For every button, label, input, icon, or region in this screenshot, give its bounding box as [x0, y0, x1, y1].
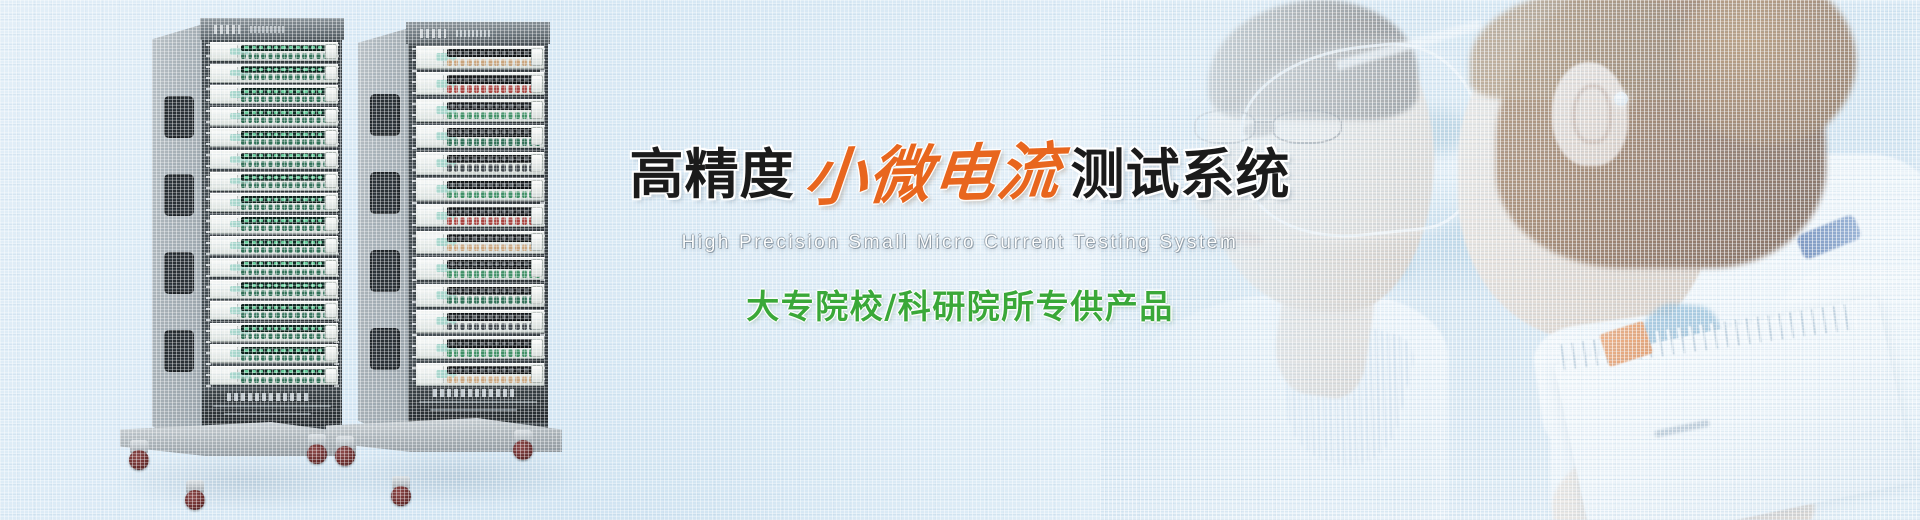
display-segment	[473, 157, 477, 161]
unit-handle	[531, 259, 543, 277]
display-segment	[318, 133, 322, 136]
unit-terminal	[454, 59, 459, 67]
unit-terminal	[268, 161, 273, 167]
display-segment	[524, 236, 528, 240]
unit-display	[447, 339, 539, 347]
display-segment	[252, 349, 256, 352]
rack-caster	[126, 440, 152, 470]
unit-terminal	[282, 269, 287, 275]
unit-terminal	[454, 323, 459, 331]
unit-terminal	[261, 182, 266, 188]
unit-terminal	[288, 139, 293, 145]
display-segment	[296, 219, 300, 222]
unit-terminal	[488, 349, 493, 357]
unit-terminal	[248, 225, 253, 231]
display-segment	[303, 219, 307, 222]
display-segment	[311, 90, 315, 93]
rack-instrument-unit	[416, 46, 544, 69]
display-segment	[495, 289, 499, 293]
unit-terminal	[460, 191, 465, 199]
unit-handle	[325, 152, 337, 167]
unit-terminal	[302, 74, 307, 80]
display-segment	[259, 46, 263, 49]
unit-terminal	[275, 53, 280, 59]
unit-terminal	[474, 270, 479, 278]
unit-terminal	[494, 244, 499, 252]
rack-vent-slot	[370, 94, 400, 136]
rack-instrument-unit	[210, 215, 338, 234]
unit-terminal	[494, 270, 499, 278]
unit-terminal	[268, 247, 273, 253]
unit-terminal	[241, 290, 246, 296]
unit-display	[447, 75, 539, 83]
unit-terminal-row	[241, 269, 336, 275]
unit-terminal	[295, 182, 300, 188]
unit-terminal	[494, 112, 499, 120]
display-segment	[450, 236, 454, 240]
display-segment	[281, 349, 285, 352]
unit-terminal	[254, 161, 259, 167]
unit-terminal	[316, 139, 321, 145]
display-segment	[487, 368, 491, 372]
display-segment	[274, 219, 278, 222]
unit-terminal	[288, 355, 293, 361]
display-segment	[303, 306, 307, 309]
unit-display	[447, 102, 539, 110]
unit-terminal	[481, 244, 486, 252]
rack-instrument-unit	[210, 64, 338, 83]
rack-instrument-unit	[416, 204, 544, 227]
unit-terminal-row	[447, 59, 542, 67]
display-segment	[289, 306, 293, 309]
display-segment	[311, 370, 315, 373]
unit-terminal	[467, 323, 472, 331]
unit-terminal	[488, 323, 493, 331]
display-segment	[281, 176, 285, 179]
unit-terminal	[454, 112, 459, 120]
display-segment	[244, 111, 248, 114]
rack-instrument-unit	[210, 128, 338, 147]
unit-terminal	[268, 117, 273, 123]
unit-handle	[531, 233, 543, 251]
display-segment	[296, 46, 300, 49]
display-segment	[296, 327, 300, 330]
unit-terminal-row	[447, 270, 542, 278]
unit-terminal	[295, 117, 300, 123]
unit-terminal	[248, 247, 253, 253]
display-segment	[495, 183, 499, 187]
unit-terminal	[515, 59, 520, 67]
display-segment	[480, 289, 484, 293]
display-segment	[274, 370, 278, 373]
unit-terminal	[447, 112, 452, 120]
unit-terminal	[248, 53, 253, 59]
unit-terminal	[522, 376, 527, 384]
unit-terminal	[316, 117, 321, 123]
unit-display	[447, 207, 539, 215]
unit-handle	[325, 44, 337, 59]
unit-terminal-row	[447, 164, 542, 172]
unit-terminal	[261, 377, 266, 383]
display-segment	[480, 262, 484, 266]
rack-cable	[430, 409, 517, 411]
unit-terminal	[302, 96, 307, 102]
unit-terminal	[241, 74, 246, 80]
display-segment	[281, 111, 285, 114]
unit-terminal	[295, 290, 300, 296]
unit-terminal	[494, 349, 499, 357]
display-segment	[502, 315, 506, 319]
unit-terminal	[302, 182, 307, 188]
display-segment	[473, 183, 477, 187]
unit-handle	[325, 217, 337, 232]
unit-terminal	[447, 323, 452, 331]
display-segment	[495, 342, 499, 346]
unit-terminal	[515, 217, 520, 225]
display-segment	[289, 284, 293, 287]
unit-terminal	[454, 164, 459, 172]
unit-terminal	[501, 217, 506, 225]
display-segment	[244, 90, 248, 93]
unit-handle	[531, 286, 543, 304]
unit-terminal	[522, 85, 527, 93]
unit-terminal	[261, 290, 266, 296]
unit-terminal	[508, 59, 513, 67]
rack-cable	[419, 401, 537, 403]
display-segment	[267, 306, 271, 309]
display-segment	[252, 370, 256, 373]
unit-terminal	[254, 204, 259, 210]
display-segment	[289, 198, 293, 201]
unit-handle	[325, 130, 337, 145]
display-segment	[318, 262, 322, 265]
display-segment	[509, 368, 513, 372]
unit-terminal-row	[241, 139, 336, 145]
display-segment	[524, 183, 528, 187]
unit-terminal-row	[241, 333, 336, 339]
display-segment	[274, 349, 278, 352]
rack-plinth	[202, 390, 342, 426]
display-segment	[289, 111, 293, 114]
unit-handle	[325, 238, 337, 253]
unit-terminal	[268, 269, 273, 275]
unit-terminal	[474, 85, 479, 93]
unit-terminal	[316, 96, 321, 102]
unit-terminal	[467, 112, 472, 120]
unit-terminal	[275, 355, 280, 361]
unit-terminal	[248, 355, 253, 361]
unit-terminal	[282, 312, 287, 318]
display-segment	[289, 349, 293, 352]
display-segment	[281, 241, 285, 244]
display-segment	[458, 368, 462, 372]
unit-terminal	[522, 244, 527, 252]
display-segment	[524, 210, 528, 214]
unit-terminal-row	[447, 85, 542, 93]
unit-terminal	[316, 161, 321, 167]
unit-terminal	[515, 296, 520, 304]
display-segment	[252, 262, 256, 265]
display-segment	[296, 241, 300, 244]
display-segment	[252, 133, 256, 136]
display-segment	[281, 370, 285, 373]
unit-handle	[531, 75, 543, 93]
unit-terminal	[302, 290, 307, 296]
display-segment	[311, 349, 315, 352]
unit-terminal	[467, 138, 472, 146]
display-segment	[458, 236, 462, 240]
rack-instrument-unit	[416, 336, 544, 359]
display-segment	[274, 68, 278, 71]
unit-terminal	[481, 85, 486, 93]
unit-terminal-row	[241, 377, 336, 383]
rack-brand-logo	[214, 25, 240, 34]
display-segment	[303, 198, 307, 201]
display-segment	[244, 306, 248, 309]
rack-instrument-unit	[210, 107, 338, 126]
unit-terminal	[241, 139, 246, 145]
display-segment	[480, 315, 484, 319]
display-segment	[281, 68, 285, 71]
unit-terminal	[261, 161, 266, 167]
unit-terminal	[282, 182, 287, 188]
unit-terminal	[295, 377, 300, 383]
unit-terminal	[309, 139, 314, 145]
display-segment	[502, 130, 506, 134]
unit-display	[241, 88, 333, 95]
rack-vent-slot	[164, 252, 194, 294]
unit-terminal	[474, 217, 479, 225]
display-segment	[450, 262, 454, 266]
display-segment	[281, 133, 285, 136]
unit-terminal	[447, 296, 452, 304]
unit-terminal	[248, 290, 253, 296]
display-segment	[296, 176, 300, 179]
display-segment	[296, 306, 300, 309]
display-segment	[289, 241, 293, 244]
rack-instrument-unit	[210, 323, 338, 342]
unit-terminal	[295, 96, 300, 102]
unit-terminal	[248, 377, 253, 383]
display-segment	[502, 210, 506, 214]
unit-terminal	[522, 349, 527, 357]
display-segment	[259, 241, 263, 244]
unit-terminal	[288, 53, 293, 59]
display-segment	[311, 241, 315, 244]
display-segment	[509, 315, 513, 319]
display-segment	[267, 176, 271, 179]
unit-terminal	[268, 225, 273, 231]
unit-terminal	[515, 191, 520, 199]
display-segment	[465, 51, 469, 55]
display-segment	[244, 349, 248, 352]
display-segment	[303, 176, 307, 179]
display-segment	[289, 176, 293, 179]
rack-model-label	[250, 26, 284, 33]
display-segment	[458, 130, 462, 134]
unit-terminal	[275, 139, 280, 145]
display-segment	[517, 104, 521, 108]
rack-instrument-unit	[416, 257, 544, 280]
unit-handle	[325, 195, 337, 210]
display-segment	[495, 104, 499, 108]
display-segment	[259, 176, 263, 179]
rack-caster	[510, 430, 536, 460]
unit-terminal	[241, 96, 246, 102]
display-segment	[517, 183, 521, 187]
display-segment	[244, 198, 248, 201]
display-segment	[473, 210, 477, 214]
unit-terminal	[254, 53, 259, 59]
subtitle-chinese: 大专院校/科研院所专供产品	[640, 280, 1280, 328]
display-segment	[487, 51, 491, 55]
unit-terminal	[288, 161, 293, 167]
display-segment	[450, 315, 454, 319]
unit-terminal	[282, 225, 287, 231]
unit-terminal	[254, 96, 259, 102]
unit-handle	[531, 127, 543, 145]
display-segment	[458, 183, 462, 187]
display-segment	[318, 68, 322, 71]
unit-terminal	[309, 355, 314, 361]
unit-terminal	[261, 74, 266, 80]
unit-terminal	[515, 349, 520, 357]
unit-terminal	[295, 161, 300, 167]
unit-handle	[325, 87, 337, 102]
unit-terminal	[501, 270, 506, 278]
display-segment	[267, 284, 271, 287]
display-segment	[303, 46, 307, 49]
display-segment	[450, 130, 454, 134]
unit-handle	[325, 174, 337, 189]
unit-terminal	[248, 74, 253, 80]
unit-terminal	[467, 270, 472, 278]
unit-handle	[325, 346, 337, 361]
unit-terminal	[302, 53, 307, 59]
display-segment	[296, 111, 300, 114]
unit-terminal	[241, 377, 246, 383]
display-segment	[259, 306, 263, 309]
unit-terminal	[295, 53, 300, 59]
rack-vent-slot	[164, 330, 194, 372]
rack-instrument-unit	[416, 72, 544, 95]
unit-terminal	[275, 269, 280, 275]
unit-terminal-row	[241, 290, 336, 296]
unit-terminal	[254, 182, 259, 188]
unit-terminal	[494, 217, 499, 225]
display-segment	[311, 133, 315, 136]
display-segment	[495, 210, 499, 214]
unit-terminal	[474, 376, 479, 384]
unit-terminal-row	[241, 161, 336, 167]
caster-wheel	[185, 490, 205, 510]
display-segment	[458, 78, 462, 82]
display-segment	[252, 90, 256, 93]
display-segment	[524, 315, 528, 319]
unit-terminal	[275, 74, 280, 80]
unit-terminal	[508, 138, 513, 146]
display-segment	[274, 90, 278, 93]
display-segment	[509, 183, 513, 187]
rack-caster	[332, 436, 358, 466]
unit-terminal	[501, 112, 506, 120]
unit-terminal	[248, 333, 253, 339]
display-segment	[487, 104, 491, 108]
unit-terminal	[288, 225, 293, 231]
display-segment	[465, 342, 469, 346]
caster-wheel	[307, 444, 327, 464]
display-segment	[296, 262, 300, 265]
display-segment	[267, 219, 271, 222]
display-segment	[267, 370, 271, 373]
display-segment	[458, 104, 462, 108]
unit-terminal	[467, 191, 472, 199]
unit-terminal	[282, 139, 287, 145]
unit-terminal	[467, 217, 472, 225]
unit-terminal	[515, 85, 520, 93]
display-segment	[303, 68, 307, 71]
unit-terminal	[474, 349, 479, 357]
display-segment	[509, 236, 513, 240]
rack-plinth	[408, 386, 548, 422]
display-segment	[517, 262, 521, 266]
unit-terminal	[295, 269, 300, 275]
display-segment	[289, 68, 293, 71]
unit-terminal	[248, 269, 253, 275]
unit-terminal	[248, 182, 253, 188]
display-segment	[509, 104, 513, 108]
caster-wheel	[335, 446, 355, 466]
unit-terminal	[316, 247, 321, 253]
display-segment	[259, 349, 263, 352]
display-segment	[318, 306, 322, 309]
unit-display	[241, 153, 333, 160]
display-segment	[318, 327, 322, 330]
display-segment	[244, 327, 248, 330]
unit-terminal	[316, 312, 321, 318]
unit-terminal	[481, 138, 486, 146]
unit-terminal-row	[447, 323, 542, 331]
unit-terminal	[460, 323, 465, 331]
display-segment	[473, 315, 477, 319]
display-segment	[502, 183, 506, 187]
display-segment	[473, 368, 477, 372]
unit-terminal	[316, 74, 321, 80]
rack-model-label	[456, 30, 490, 37]
unit-terminal	[254, 74, 259, 80]
unit-terminal	[447, 85, 452, 93]
display-segment	[495, 130, 499, 134]
display-segment	[318, 176, 322, 179]
unit-terminal	[254, 139, 259, 145]
display-segment	[311, 284, 315, 287]
unit-terminal	[447, 376, 452, 384]
unit-terminal	[261, 53, 266, 59]
unit-terminal	[447, 244, 452, 252]
display-segment	[244, 219, 248, 222]
display-segment	[458, 51, 462, 55]
unit-terminal	[302, 269, 307, 275]
unit-display	[447, 155, 539, 163]
rack-instrument-unit	[210, 344, 338, 363]
rack-instrument-unit	[210, 280, 338, 299]
display-segment	[318, 241, 322, 244]
unit-terminal	[501, 164, 506, 172]
unit-terminal	[316, 204, 321, 210]
unit-terminal	[261, 204, 266, 210]
unit-display	[241, 196, 333, 203]
display-segment	[267, 46, 271, 49]
